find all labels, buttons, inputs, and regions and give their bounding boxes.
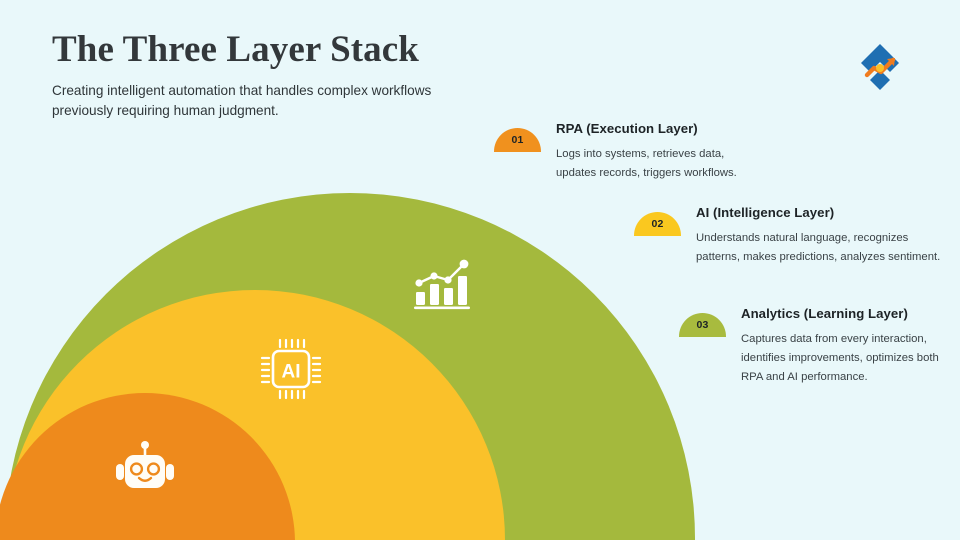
layer-item-ai[interactable]: 02 AI (Intelligence Layer) Understands n… (634, 205, 940, 267)
layer-title-analytics: Analytics (Learning Layer) (741, 306, 939, 321)
layer-number-badge-02: 02 (634, 212, 681, 236)
layer-description-analytics: Captures data from every interaction, id… (741, 330, 939, 387)
layer-description-rpa: Logs into systems, retrieves data, updat… (556, 145, 737, 183)
layer-item-rpa[interactable]: 01 RPA (Execution Layer) Logs into syste… (494, 121, 737, 183)
layer-title-rpa: RPA (Execution Layer) (556, 121, 737, 136)
layer-number-badge-03: 03 (679, 313, 726, 337)
layer-text-ai: AI (Intelligence Layer) Understands natu… (696, 205, 940, 267)
layer-number-02: 02 (634, 218, 681, 230)
layer-title-ai: AI (Intelligence Layer) (696, 205, 940, 220)
layer-text-rpa: RPA (Execution Layer) Logs into systems,… (556, 121, 737, 183)
layer-number-01: 01 (494, 134, 541, 146)
slide-canvas: AI The Three Layer Stack Creating intell… (0, 0, 960, 540)
layer-description-ai: Understands natural language, recognizes… (696, 229, 940, 267)
layer-list: 01 RPA (Execution Layer) Logs into syste… (0, 0, 960, 540)
layer-text-analytics: Analytics (Learning Layer) Captures data… (741, 306, 939, 387)
layer-item-analytics[interactable]: 03 Analytics (Learning Layer) Captures d… (679, 306, 939, 387)
layer-number-badge-01: 01 (494, 128, 541, 152)
layer-number-03: 03 (679, 319, 726, 331)
